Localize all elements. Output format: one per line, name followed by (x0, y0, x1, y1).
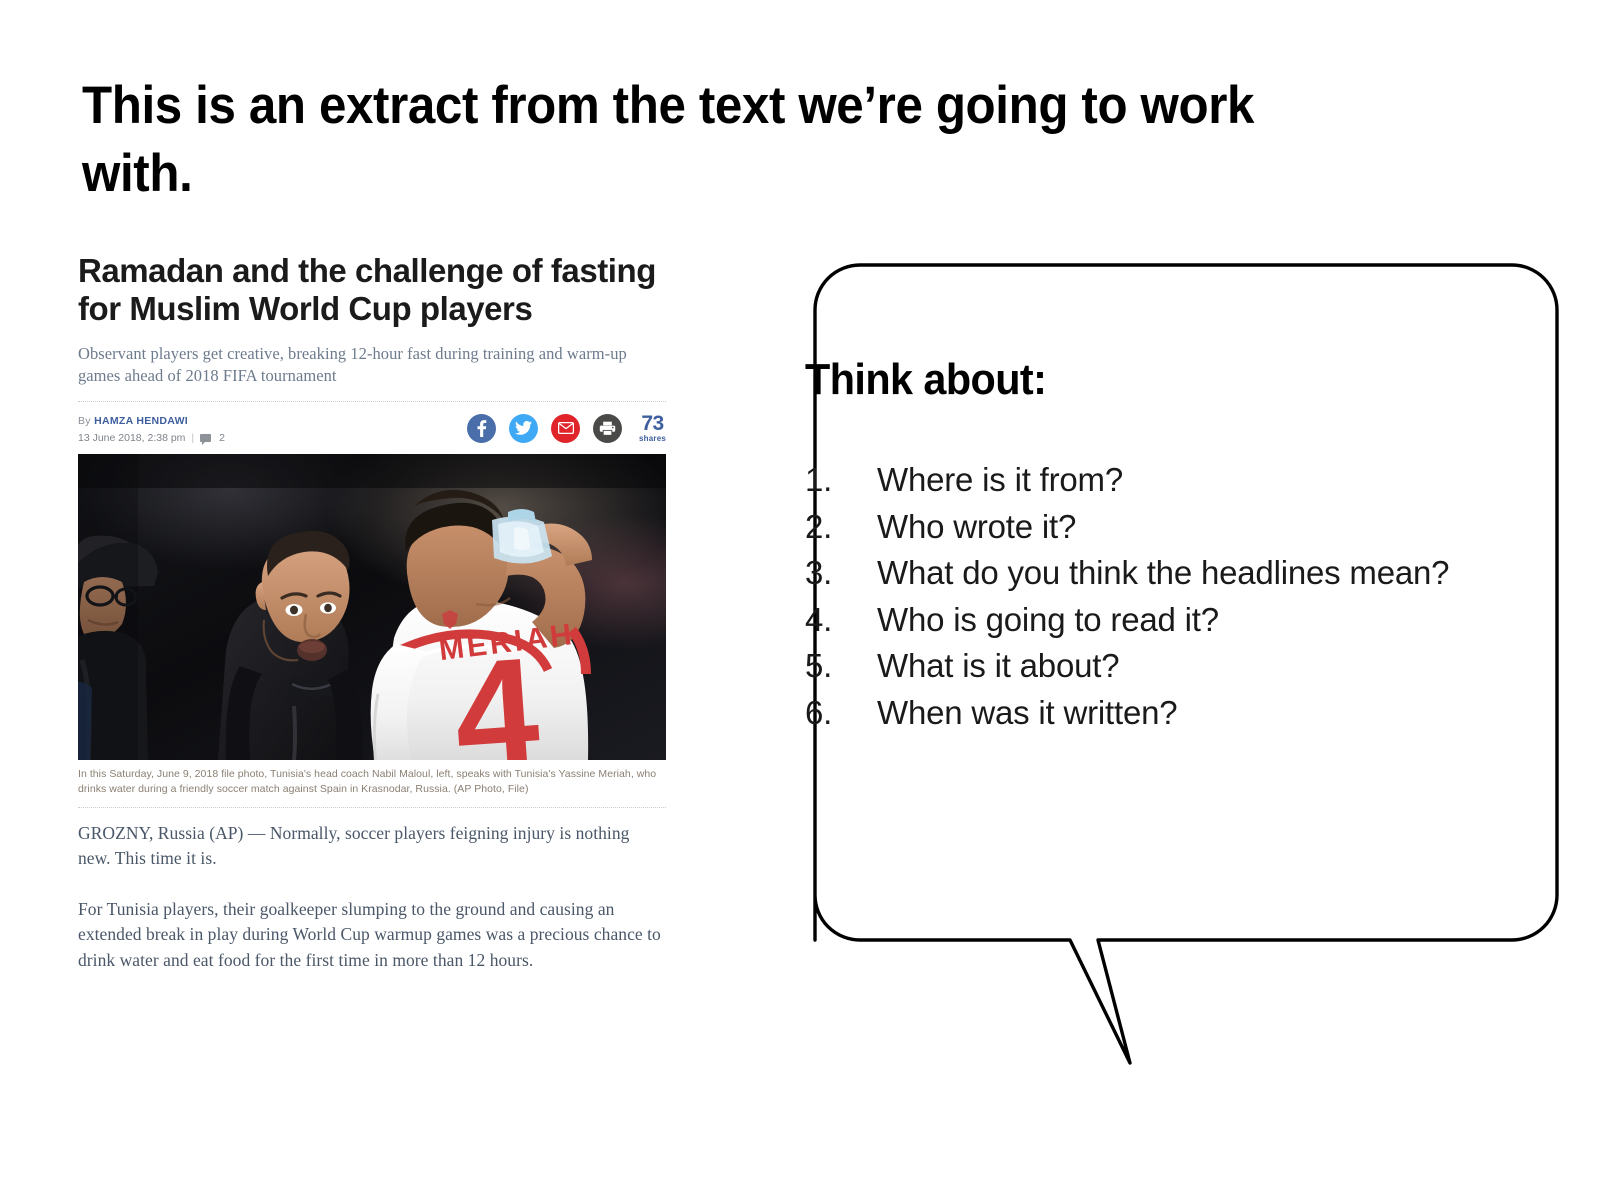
list-item-text: Who wrote it? (877, 504, 1515, 551)
shares-count: 73 (639, 413, 666, 434)
article-clipping: Ramadan and the challenge of fasting for… (78, 252, 666, 973)
list-item-text: Where is it from? (877, 457, 1515, 504)
byline-prefix: By (78, 415, 91, 427)
list-item: 4. Who is going to read it? (805, 597, 1515, 644)
body-paragraph: GROZNY, Russia (AP) — Normally, soccer p… (78, 821, 666, 872)
speech-bubble-content: Think about: 1. Where is it from? 2. Who… (805, 355, 1515, 736)
article-photo: MERIAH 4 (78, 454, 666, 760)
speech-bubble-title: Think about: (805, 355, 1472, 405)
social-share-row: 73 shares (467, 412, 666, 443)
list-item-text: When was it written? (877, 690, 1515, 737)
shares-block: 73 shares (639, 413, 666, 443)
list-item-number: 5. (805, 643, 877, 690)
list-item-number: 2. (805, 504, 877, 551)
article-byline-meta: 13 June 2018, 2:38 pm | 2 (78, 432, 225, 444)
article-headline: Ramadan and the challenge of fasting for… (78, 252, 666, 329)
twitter-icon[interactable] (509, 414, 538, 443)
body-paragraph: For Tunisia players, their goalkeeper sl… (78, 897, 666, 974)
byline-row: By HAMZA HENDAWI 13 June 2018, 2:38 pm |… (78, 402, 666, 454)
comment-bubble-icon (200, 434, 211, 442)
byline-separator: | (191, 432, 194, 444)
list-item: 2. Who wrote it? (805, 504, 1515, 551)
slide-title: This is an extract from the text we’re g… (82, 72, 1319, 208)
think-about-list: 1. Where is it from? 2. Who wrote it? 3.… (805, 457, 1515, 736)
article-subhead: Observant players get creative, breaking… (78, 343, 666, 389)
email-icon[interactable] (551, 414, 580, 443)
list-item-number: 4. (805, 597, 877, 644)
list-item-text: Who is going to read it? (877, 597, 1515, 644)
byline-date: 13 June 2018, 2:38 pm (78, 432, 185, 444)
list-item: 5. What is it about? (805, 643, 1515, 690)
speech-bubble: Think about: 1. Where is it from? 2. Who… (740, 240, 1580, 1090)
list-item: 6. When was it written? (805, 690, 1515, 737)
jersey-number-text: 4 (449, 625, 544, 760)
article-body: GROZNY, Russia (AP) — Normally, soccer p… (78, 808, 666, 974)
facebook-icon[interactable] (467, 414, 496, 443)
article-byline-author: By HAMZA HENDAWI (78, 415, 225, 427)
print-icon[interactable] (593, 414, 622, 443)
list-item-number: 6. (805, 690, 877, 737)
byline-author-name[interactable]: HAMZA HENDAWI (94, 415, 188, 427)
shares-label: shares (639, 435, 666, 443)
list-item-number: 1. (805, 457, 877, 504)
list-item-text: What is it about? (877, 643, 1515, 690)
photo-caption: In this Saturday, June 9, 2018 file phot… (78, 760, 666, 806)
list-item-text: What do you think the headlines mean? (877, 550, 1515, 597)
byline-comment-count[interactable]: 2 (219, 432, 225, 444)
byline-left: By HAMZA HENDAWI 13 June 2018, 2:38 pm |… (78, 412, 225, 444)
list-item: 1. Where is it from? (805, 457, 1515, 504)
list-item-number: 3. (805, 550, 877, 597)
list-item: 3. What do you think the headlines mean? (805, 550, 1515, 597)
